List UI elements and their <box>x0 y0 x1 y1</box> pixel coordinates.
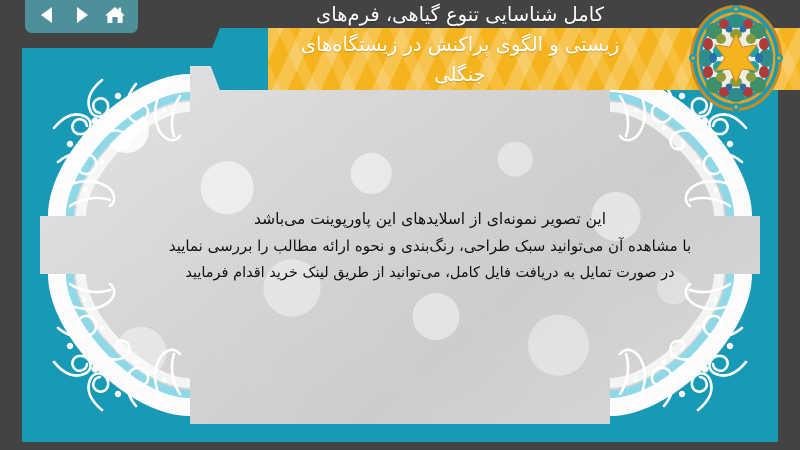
slide-frame: این تصویر نمونه‌ای از اسلایدهای این پاور… <box>22 48 778 442</box>
previous-button[interactable] <box>35 2 61 28</box>
navigation-bar <box>25 0 138 33</box>
slide-content-area: این تصویر نمونه‌ای از اسلایدهای این پاور… <box>40 66 760 424</box>
title-line-1: کامل شناسایی تنوع گیاهی، فرم‌های <box>316 3 604 26</box>
slide-body-text: این تصویر نمونه‌ای از اسلایدهای این پاور… <box>80 206 760 287</box>
triangle-right-icon <box>71 5 91 25</box>
circular-medallion-ornament <box>688 3 784 113</box>
slide-viewer: این تصویر نمونه‌ای از اسلایدهای این پاور… <box>0 0 800 450</box>
body-line-2: با مشاهده آن می‌توانید سبک طراحی، رنگ‌بن… <box>80 233 760 260</box>
home-icon <box>104 5 126 25</box>
body-line-3: در صورت تمایل به دریافت فایل کامل، می‌تو… <box>80 260 760 287</box>
triangle-left-icon <box>38 5 58 25</box>
next-button[interactable] <box>68 2 94 28</box>
corner-ornament-bottom-left <box>40 274 190 424</box>
banner-ribbon-tail <box>208 28 274 90</box>
corner-ornament-top-left <box>40 66 190 216</box>
corner-ornament-bottom-right <box>610 274 760 424</box>
body-line-1: این تصویر نمونه‌ای از اسلایدهای این پاور… <box>80 206 760 233</box>
home-button[interactable] <box>102 2 128 28</box>
